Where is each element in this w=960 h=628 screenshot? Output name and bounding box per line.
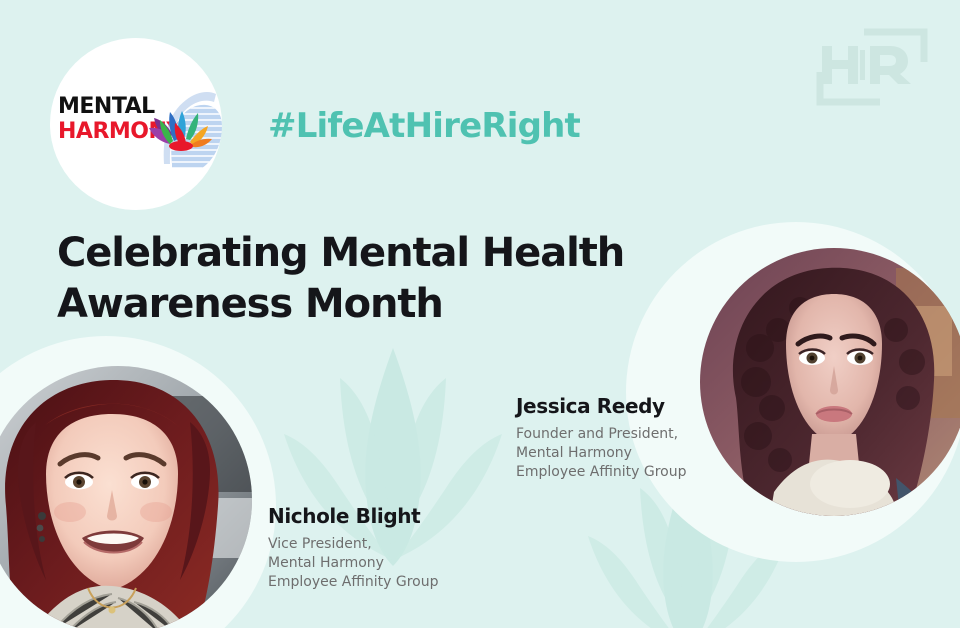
- person-name: Nichole Blight: [268, 504, 478, 528]
- person-role-line-2: Mental Harmony: [516, 444, 716, 463]
- mental-harmony-logo: MENTAL HARMONY: [58, 86, 223, 171]
- person-card-nichole-blight: Nichole Blight Vice President, Mental Ha…: [268, 504, 478, 592]
- person-role-line-1: Founder and President,: [516, 425, 716, 444]
- hashtag-label: #LifeAtHireRight: [268, 106, 580, 146]
- headline-line-1: Celebrating Mental Health: [57, 230, 624, 276]
- person-name: Jessica Reedy: [516, 394, 716, 418]
- promo-graphic-canvas: MENTAL HARMONY: [0, 0, 960, 628]
- page-title: Celebrating Mental Health Awareness Mont…: [57, 228, 677, 330]
- lotus-head-icon: [142, 78, 222, 170]
- avatar-jessica-reedy: [700, 248, 960, 516]
- person-role-line-2: Mental Harmony: [268, 554, 478, 573]
- person-role-line-3: Employee Affinity Group: [268, 573, 478, 592]
- person-role-line-1: Vice President,: [268, 535, 478, 554]
- person-card-jessica-reedy: Jessica Reedy Founder and President, Men…: [516, 394, 716, 482]
- headline-line-2: Awareness Month: [57, 279, 677, 330]
- person-role-line-3: Employee Affinity Group: [516, 463, 716, 482]
- hireright-logo: [812, 28, 932, 106]
